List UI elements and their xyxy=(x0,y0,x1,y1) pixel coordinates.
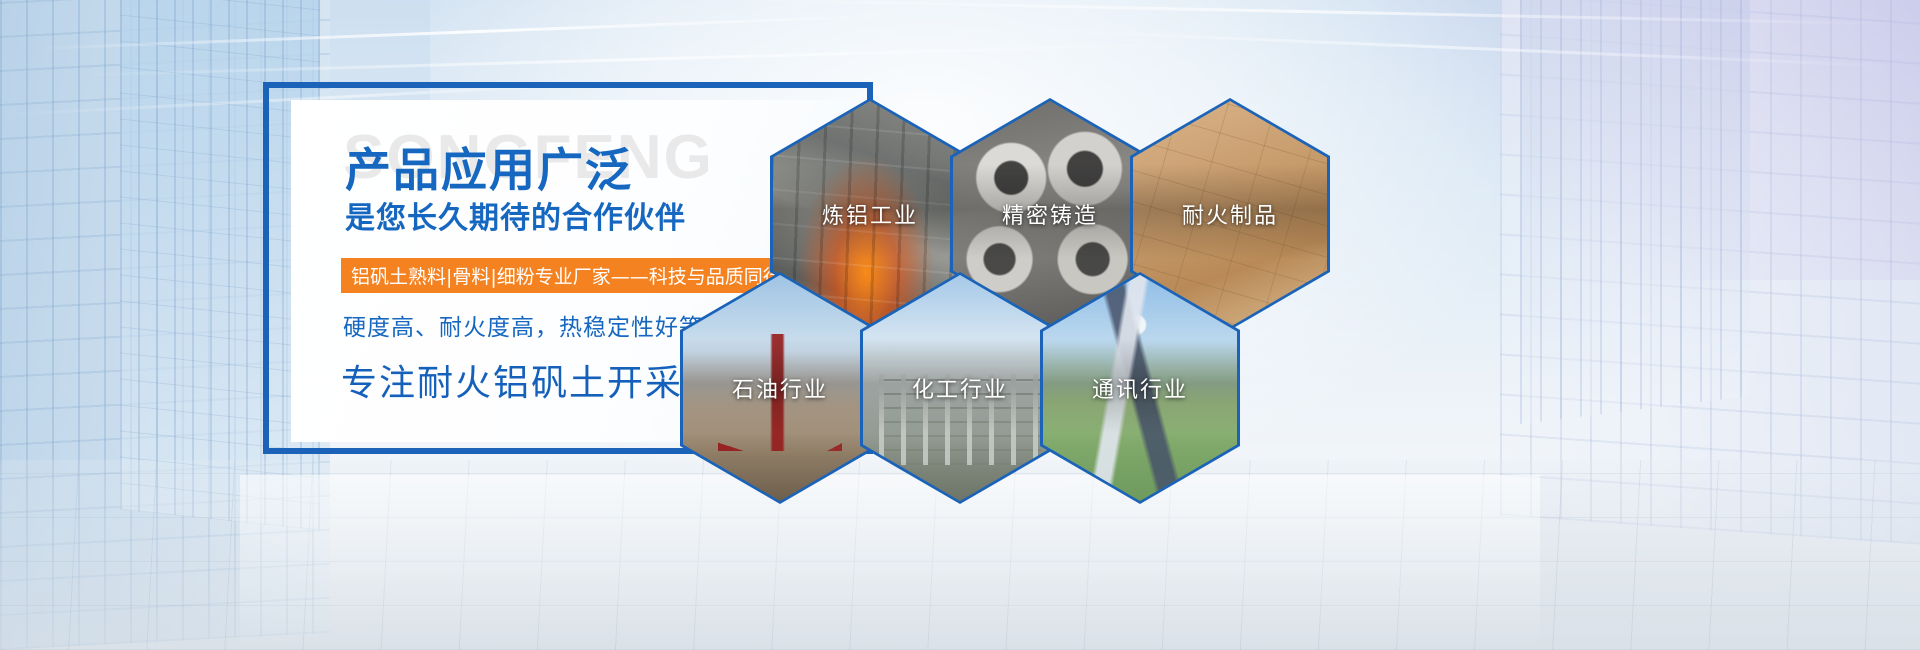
hex-label: 通讯行业 xyxy=(1043,372,1237,404)
promo-banner: SONGFENG 产品应用广泛 是您长久期待的合作伙伴 铝矾土熟料|骨料|细粉专… xyxy=(0,0,1920,650)
headline: 产品应用广泛 xyxy=(345,134,633,200)
industry-hexagon-grid: 炼铝工业 精密铸造 耐火制品 石油行业 xyxy=(660,70,1360,540)
hex-label: 耐火制品 xyxy=(1133,198,1327,230)
hex-label: 炼铝工业 xyxy=(773,198,967,230)
subheadline: 是您长久期待的合作伙伴 xyxy=(345,193,686,237)
hex-label: 精密铸造 xyxy=(953,198,1147,230)
hex-label: 化工行业 xyxy=(863,372,1057,404)
hex-label: 石油行业 xyxy=(683,372,877,404)
